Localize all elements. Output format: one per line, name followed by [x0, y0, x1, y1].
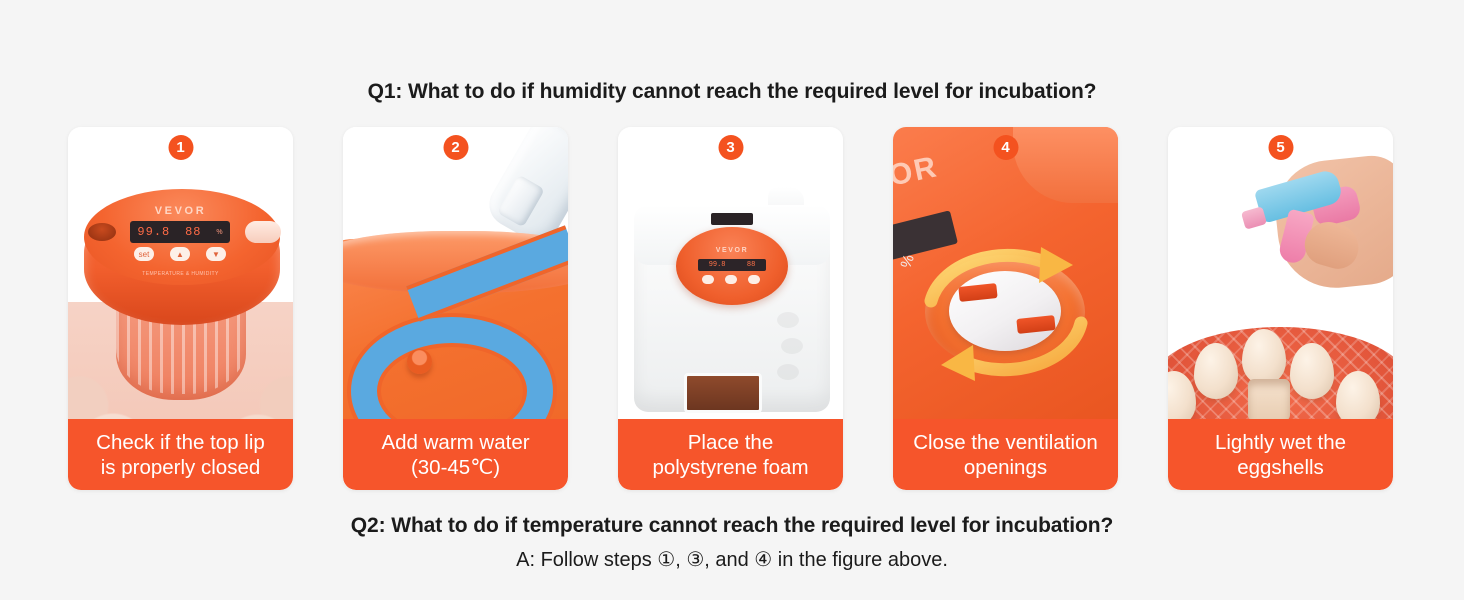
center-plug-icon	[407, 349, 432, 374]
center-water-cup	[1248, 379, 1290, 421]
q2-heading: Q2: What to do if temperature cannot rea…	[0, 514, 1464, 538]
step-badge-3: 3	[718, 135, 743, 160]
infographic-page: Q1: What to do if humidity cannot reach …	[0, 0, 1464, 600]
device-button-row: set ▲ ▼	[134, 247, 226, 261]
spray-nozzle-icon	[1241, 206, 1267, 229]
up-arrow-icon: ▲	[170, 247, 190, 261]
step-caption-2: Add warm water (30-45℃)	[343, 419, 568, 490]
humidity-unit-label: %	[216, 229, 222, 236]
step-caption-3: Place the polystyrene foam	[618, 419, 843, 490]
humidity-readout: 88	[747, 261, 755, 269]
q1-heading: Q1: What to do if humidity cannot reach …	[0, 80, 1464, 104]
step-badge-5: 5	[1268, 135, 1293, 160]
step-card-5[interactable]: 5 Lightly wet the eggshells	[1168, 127, 1393, 490]
step-caption-1: Check if the top lip is properly closed	[68, 419, 293, 490]
steps-strip: VEVOR 99.8 88 % set ▲ ▼ TEMPERATURE & HU…	[68, 127, 1396, 490]
lid-vent-slot	[711, 213, 753, 225]
caption-line-1: Place the	[688, 430, 773, 455]
step-badge-1: 1	[168, 135, 193, 160]
down-arrow-icon: ▼	[206, 247, 226, 261]
device-display-panel: 99.8 88 %	[130, 221, 230, 243]
humidity-readout: 88	[185, 225, 201, 239]
caption-line-1: Lightly wet the	[1215, 430, 1346, 455]
caption-line-1: Check if the top lip	[96, 430, 265, 455]
rotation-arrows-icon	[915, 243, 1097, 383]
temperature-readout: 99.8	[137, 225, 170, 239]
caption-line-1: Add warm water	[381, 430, 529, 455]
step-card-4[interactable]: OR % 4	[893, 127, 1118, 490]
vent-knob-icon	[245, 221, 281, 243]
set-button-icon: set	[134, 247, 154, 261]
step-caption-5: Lightly wet the eggshells	[1168, 419, 1393, 490]
step-card-3[interactable]: VEVOR 99.8 88 3 Place the polystyrene fo…	[618, 127, 843, 490]
caption-line-2: (30-45℃)	[411, 455, 500, 480]
brand-logo-text: VEVOR	[676, 247, 788, 254]
step-card-1[interactable]: VEVOR 99.8 88 % set ▲ ▼ TEMPERATURE & HU…	[68, 127, 293, 490]
device-display-panel: 99.8 88	[698, 259, 766, 271]
device-button-row	[702, 275, 760, 284]
brand-logo-text: VEVOR	[68, 205, 293, 217]
down-arrow-icon	[748, 275, 760, 284]
device-footnote-text: TEMPERATURE & HUMIDITY	[68, 271, 293, 277]
step-caption-4: Close the ventilation openings	[893, 419, 1118, 490]
q2-answer: A: Follow steps ①, ③, and ④ in the figur…	[0, 547, 1464, 572]
caption-line-1: Close the ventilation	[913, 430, 1098, 455]
caption-line-2: polystyrene foam	[652, 455, 808, 480]
step-badge-4: 4	[993, 135, 1018, 160]
caption-line-2: openings	[964, 455, 1047, 480]
set-button-icon	[702, 275, 714, 284]
step-card-2[interactable]: 2 Add warm water (30-45℃)	[343, 127, 568, 490]
caption-line-2: eggshells	[1237, 455, 1324, 480]
step-badge-2: 2	[443, 135, 468, 160]
water-fill-hole-icon	[88, 223, 116, 241]
up-arrow-icon	[725, 275, 737, 284]
foam-box-dimples	[777, 312, 817, 382]
temperature-readout: 99.8	[709, 261, 726, 269]
foam-viewing-window	[684, 373, 762, 413]
caption-line-2: is properly closed	[101, 455, 261, 480]
